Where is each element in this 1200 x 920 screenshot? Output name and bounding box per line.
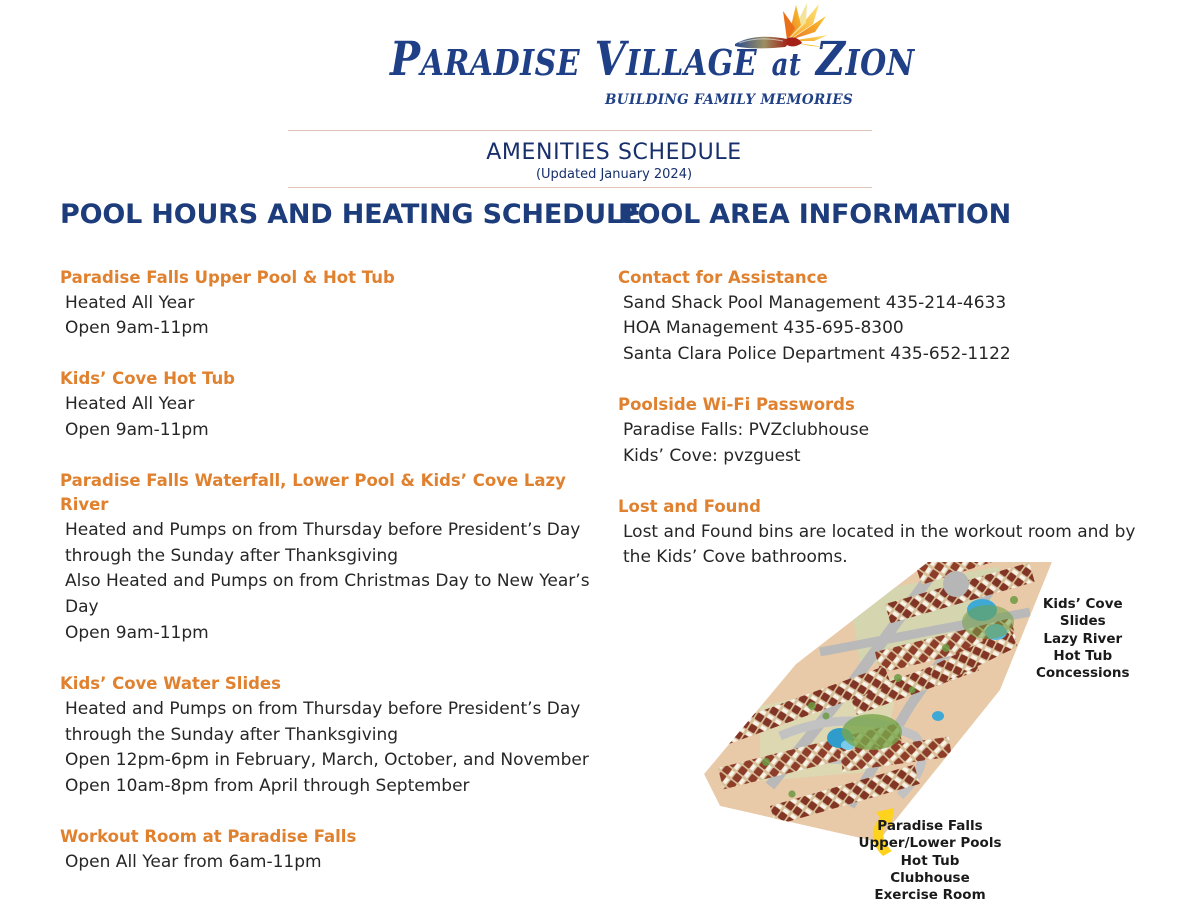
callout-line: Paradise Falls bbox=[820, 818, 1040, 835]
logo-tagline: BUILDING FAMILY MEMORIES bbox=[605, 92, 853, 108]
section-kids-cove-hot-tub: Kids’ Cove Hot Tub Heated All Year Open … bbox=[60, 367, 598, 444]
section-title: Lost and Found bbox=[618, 495, 1158, 519]
pool-hours-column: POOL HOURS AND HEATING SCHEDULE Paradise… bbox=[60, 200, 598, 876]
section-line: Open 10am-8pm from April through Septemb… bbox=[60, 774, 598, 800]
section-waterfall-lower-pool-lazy-river: Paradise Falls Waterfall, Lower Pool & K… bbox=[60, 469, 598, 647]
section-workout-room: Workout Room at Paradise Falls Open All … bbox=[60, 825, 598, 876]
callout-line: Slides bbox=[1036, 613, 1130, 630]
page-title: AMENITIES SCHEDULE bbox=[322, 140, 906, 165]
section-line: Open 12pm-6pm in February, March, Octobe… bbox=[60, 748, 598, 774]
section-line: Open 9am-11pm bbox=[60, 316, 598, 342]
section-line: Heated and Pumps on from Thursday before… bbox=[60, 697, 598, 749]
map-callout-paradise-falls: Paradise FallsUpper/Lower PoolsHot TubCl… bbox=[820, 818, 1040, 904]
section-title: Kids’ Cove Water Slides bbox=[60, 672, 598, 696]
callout-line: Clubhouse bbox=[820, 870, 1040, 887]
callout-line: Kids’ Cove bbox=[1036, 596, 1130, 613]
section-line: Sand Shack Pool Management 435-214-4633 bbox=[618, 291, 1158, 317]
section-poolside-wifi-passwords: Poolside Wi-Fi Passwords Paradise Falls:… bbox=[618, 393, 1158, 470]
section-contact-for-assistance: Contact for Assistance Sand Shack Pool M… bbox=[618, 266, 1158, 368]
callout-line: Upper/Lower Pools bbox=[820, 835, 1040, 852]
callout-line: Hot Tub bbox=[1036, 648, 1130, 665]
section-upper-pool-hot-tub: Paradise Falls Upper Pool & Hot Tub Heat… bbox=[60, 266, 598, 343]
title-band: AMENITIES SCHEDULE (Updated January 2024… bbox=[288, 130, 872, 188]
callout-line: Lazy River bbox=[1036, 631, 1130, 648]
section-title: Poolside Wi-Fi Passwords bbox=[618, 393, 1158, 417]
column-heading-pool-area-info: POOL AREA INFORMATION bbox=[618, 200, 1158, 230]
section-line: Kids’ Cove: pvzguest bbox=[618, 444, 1158, 470]
section-line: Heated All Year bbox=[60, 392, 598, 418]
section-kids-cove-water-slides: Kids’ Cove Water Slides Heated and Pumps… bbox=[60, 672, 598, 800]
community-site-map: Kids’ CoveSlidesLazy RiverHot TubConcess… bbox=[700, 556, 1200, 916]
section-title: Paradise Falls Waterfall, Lower Pool & K… bbox=[60, 469, 598, 517]
section-line: Also Heated and Pumps on from Christmas … bbox=[60, 569, 598, 621]
section-line: Paradise Falls: PVZclubhouse bbox=[618, 418, 1158, 444]
brand-logo: PARADISE VILLAGE at ZION BUILDING FAMILY… bbox=[0, 8, 1200, 116]
section-line: Heated and Pumps on from Thursday before… bbox=[60, 518, 598, 570]
bird-of-paradise-flower-icon bbox=[733, 2, 828, 68]
callout-line: Hot Tub bbox=[820, 853, 1040, 870]
pool-area-info-column: POOL AREA INFORMATION Contact for Assist… bbox=[618, 200, 1158, 571]
page-title-subtitle: (Updated January 2024) bbox=[322, 167, 906, 182]
map-callout-kids-cove: Kids’ CoveSlidesLazy RiverHot TubConcess… bbox=[1036, 596, 1130, 682]
section-line: Open 9am-11pm bbox=[60, 621, 598, 647]
section-title: Contact for Assistance bbox=[618, 266, 1158, 290]
section-title: Workout Room at Paradise Falls bbox=[60, 825, 598, 849]
callout-line: Concessions bbox=[1036, 665, 1130, 682]
section-line: Heated All Year bbox=[60, 291, 598, 317]
column-heading-pool-hours: POOL HOURS AND HEATING SCHEDULE bbox=[60, 200, 598, 230]
callout-line: Exercise Room bbox=[820, 887, 1040, 904]
section-title: Kids’ Cove Hot Tub bbox=[60, 367, 598, 391]
section-line: Santa Clara Police Department 435-652-11… bbox=[618, 342, 1158, 368]
section-title: Paradise Falls Upper Pool & Hot Tub bbox=[60, 266, 598, 290]
section-line: Open All Year from 6am-11pm bbox=[60, 850, 598, 876]
section-line: Open 9am-11pm bbox=[60, 418, 598, 444]
section-line: HOA Management 435-695-8300 bbox=[618, 316, 1158, 342]
